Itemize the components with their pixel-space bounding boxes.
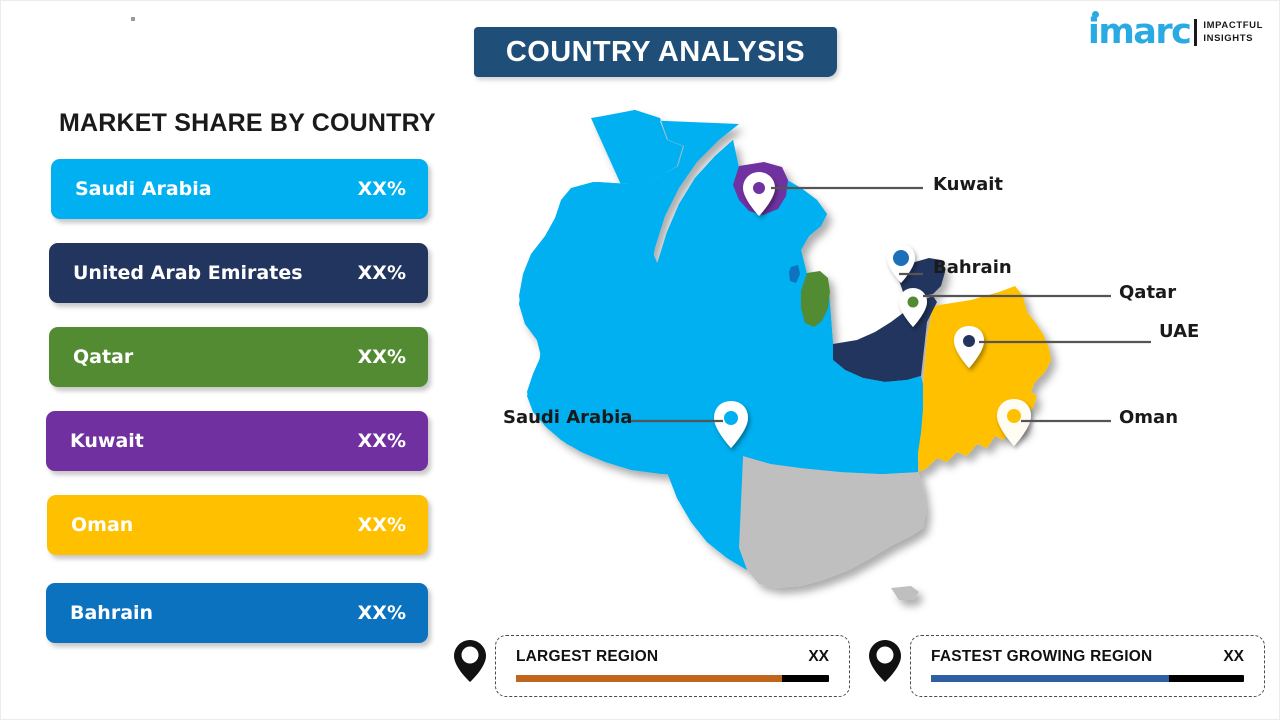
bar-label: Oman [71, 514, 358, 536]
country-analysis-infographic: COUNTRY ANALYSIS imarc IMPACTFUL INSIGHT… [0, 0, 1280, 720]
decorative-speck [131, 17, 135, 21]
map-label-qatar: Qatar [1119, 282, 1176, 303]
page-title: COUNTRY ANALYSIS [506, 36, 805, 69]
imarc-wordmark: imarc [1088, 15, 1191, 49]
largest-region-value: XX [808, 648, 829, 666]
bar-label: Kuwait [70, 430, 358, 452]
largest-region-progress-track [516, 675, 829, 682]
fastest-region-value: XX [1223, 648, 1244, 666]
imarc-wordmark-text: imarc [1088, 12, 1191, 52]
imarc-tagline-line1: IMPACTFUL [1203, 19, 1263, 32]
market-share-heading: MARKET SHARE BY COUNTRY [59, 109, 436, 138]
imarc-tagline: IMPACTFUL INSIGHTS [1203, 19, 1263, 45]
bar-label: Saudi Arabia [75, 178, 358, 200]
fastest-region-progress-fill [931, 675, 1169, 682]
bar-value: XX% [358, 602, 406, 624]
map-label-saudi-arabia: Saudi Arabia [503, 407, 632, 428]
gcc-map: Kuwait Bahrain Qatar UAE Saudi Arabia Om… [471, 96, 1151, 626]
map-label-uae: UAE [1159, 321, 1199, 342]
fastest-region-pin-icon [868, 639, 902, 683]
map-svg [471, 96, 1151, 626]
map-label-kuwait: Kuwait [933, 174, 1003, 195]
page-title-banner: COUNTRY ANALYSIS [474, 27, 837, 77]
market-share-bar-united-arab-emirates[interactable]: United Arab Emirates XX% [49, 243, 428, 303]
fastest-region-progress-track [931, 675, 1244, 682]
map-region-oman [918, 286, 1051, 472]
imarc-dot-icon [1092, 11, 1099, 18]
bar-label: United Arab Emirates [73, 262, 358, 284]
market-share-bar-oman[interactable]: Oman XX% [47, 495, 428, 555]
map-label-bahrain: Bahrain [933, 257, 1012, 278]
bar-value: XX% [358, 262, 406, 284]
largest-region-box[interactable]: LARGEST REGION XX [495, 635, 850, 697]
bar-label: Qatar [73, 346, 358, 368]
market-share-bar-saudi-arabia[interactable]: Saudi Arabia XX% [51, 159, 428, 219]
largest-region-row: LARGEST REGION XX [516, 648, 829, 666]
market-share-bar-qatar[interactable]: Qatar XX% [49, 327, 428, 387]
map-label-oman: Oman [1119, 407, 1178, 428]
imarc-logo: imarc IMPACTFUL INSIGHTS [1088, 15, 1263, 49]
fastest-region-row: FASTEST GROWING REGION XX [931, 648, 1244, 666]
fastest-region-label: FASTEST GROWING REGION [931, 648, 1152, 666]
bar-value: XX% [358, 178, 406, 200]
bar-label: Bahrain [70, 602, 358, 624]
market-share-bar-kuwait[interactable]: Kuwait XX% [46, 411, 428, 471]
logo-divider [1194, 19, 1197, 46]
bar-value: XX% [358, 514, 406, 536]
fastest-region-box[interactable]: FASTEST GROWING REGION XX [910, 635, 1265, 697]
largest-region-label: LARGEST REGION [516, 648, 658, 666]
imarc-tagline-line2: INSIGHTS [1203, 32, 1263, 45]
map-region-yemen [735, 456, 926, 588]
map-region-oman-exclave [891, 586, 919, 600]
bar-value: XX% [358, 346, 406, 368]
largest-region-progress-fill [516, 675, 782, 682]
largest-region-pin-icon [453, 639, 487, 683]
bar-value: XX% [358, 430, 406, 452]
market-share-bar-bahrain[interactable]: Bahrain XX% [46, 583, 428, 643]
